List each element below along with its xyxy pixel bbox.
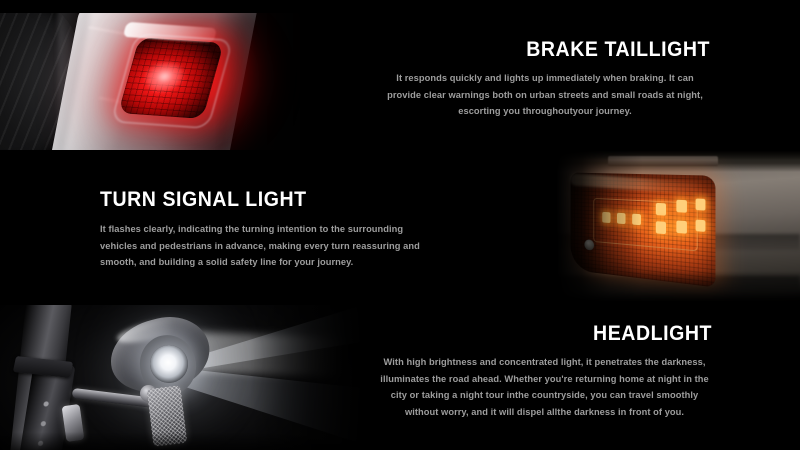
brake-taillight-image <box>0 0 300 150</box>
turn-image-bottom-fade <box>556 271 800 305</box>
brake-image-right-fade <box>214 0 300 150</box>
top-letterbox-bar <box>0 0 800 13</box>
headlight-heading: HEADLIGHT <box>400 322 712 345</box>
turn-signal-description: It flashes clearly, indicating the turni… <box>100 221 435 271</box>
product-feature-page: BRAKE TAILLIGHT It responds quickly and … <box>0 0 800 450</box>
turn-signal-heading: TURN SIGNAL LIGHT <box>100 188 412 211</box>
headlight-image-right-fade <box>250 305 380 450</box>
headlight-description: With high brightness and concentrated li… <box>377 354 712 420</box>
led-segment <box>676 220 687 233</box>
led-segment <box>696 198 706 210</box>
led-segment <box>656 203 666 216</box>
headlight-image <box>0 305 380 450</box>
brake-taillight-text-block: BRAKE TAILLIGHT It responds quickly and … <box>380 38 710 120</box>
led-segment <box>696 220 706 232</box>
brake-taillight-description: It responds quickly and lights up immedi… <box>380 70 710 120</box>
led-segment <box>656 221 666 234</box>
headlight-bulb <box>150 345 188 383</box>
section-turn-signal-light: TURN SIGNAL LIGHT It flashes clearly, in… <box>0 150 800 305</box>
section-headlight: HEADLIGHT With high brightness and conce… <box>0 305 800 450</box>
led-segment <box>676 200 687 213</box>
brake-taillight-heading: BRAKE TAILLIGHT <box>403 38 710 61</box>
turn-signal-image <box>556 150 800 305</box>
turn-image-top-fade <box>556 150 800 160</box>
headlight-image-bottom-fade <box>0 432 380 450</box>
turn-signal-text-block: TURN SIGNAL LIGHT It flashes clearly, in… <box>100 188 435 271</box>
section-brake-taillight: BRAKE TAILLIGHT It responds quickly and … <box>0 0 800 150</box>
headlight-text-block: HEADLIGHT With high brightness and conce… <box>377 322 712 420</box>
